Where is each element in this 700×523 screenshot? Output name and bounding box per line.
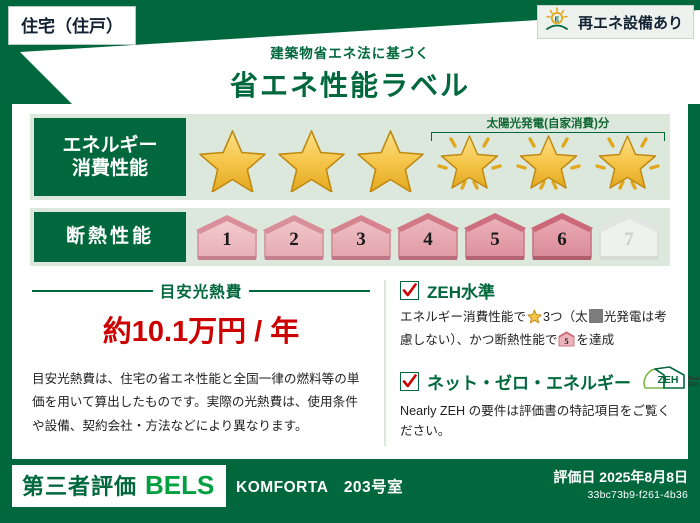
- footer: 第三者評価 BELS KOMFORTA 203号室 評価日 2025年8月8日 …: [0, 459, 700, 523]
- title-subtitle: 建築物省エネ法に基づく: [0, 42, 700, 62]
- insulation-level-5: 5: [462, 213, 528, 261]
- svg-text:E: E: [555, 16, 560, 23]
- checkmark-icon: [400, 281, 419, 300]
- zeh-standard-text-part-2: 3つ（太: [543, 310, 588, 324]
- heading-rule-left: [32, 290, 153, 292]
- footer-meta: 評価日 2025年8月8日 33bc73b9-f261-4b36: [553, 467, 688, 501]
- energy-cost-value: 約10.1万円 / 年: [32, 308, 370, 350]
- insulation-level-4: 4: [395, 213, 461, 261]
- solar-sun-icon: E: [544, 7, 572, 38]
- star-3: [352, 122, 429, 192]
- insulation-performance-body: 1 2: [186, 208, 670, 266]
- solar-bracket: 太陽光発電(自家消費)分: [431, 118, 665, 141]
- solar-bracket-line: [431, 132, 665, 141]
- energy-cost-heading: 目安光熱費: [160, 280, 243, 302]
- zeh-block: ZEH水準 エネルギー消費性能で3つ（太光発電は考慮しない）、かつ断熱性能で5を…: [400, 278, 676, 454]
- bels-en-label: BELS: [145, 470, 214, 501]
- insulation-level-3: 3: [328, 213, 394, 261]
- insulation-level-1: 1: [194, 213, 260, 261]
- zeh-logo-icon: ZEH Nearly ZEH: [641, 366, 700, 397]
- zeh-net-zero-title: ネット・ゼロ・エネルギー: [427, 369, 631, 394]
- zeh-standard-title: ZEH水準: [427, 278, 495, 303]
- title-main: 省エネ性能ラベル: [0, 64, 700, 104]
- star-1: [194, 122, 271, 192]
- zeh-net-zero-text: Nearly ZEH の要件は評価書の特記項目をご覧ください。: [400, 401, 676, 442]
- insulation-performance-row: 断熱性能 1: [30, 208, 670, 266]
- renewable-energy-badge: E 再エネ設備あり: [537, 5, 694, 39]
- house-5-icon: 5: [558, 336, 575, 350]
- residence-type-pill: 住宅（住戸）: [8, 6, 136, 45]
- insulation-level-7-number: 7: [596, 229, 662, 251]
- star-2: [273, 122, 350, 192]
- insulation-level-6: 6: [529, 213, 595, 261]
- insulation-level-1-number: 1: [194, 229, 260, 251]
- solar-bracket-label: 太陽光発電(自家消費)分: [431, 118, 665, 131]
- energy-performance-label: エネルギー 消費性能: [34, 118, 186, 196]
- energy-cost-block: 目安光熱費 約10.1万円 / 年 目安光熱費は、住宅の省エネ性能と全国一律の燃…: [32, 280, 370, 438]
- title-block: 建築物省エネ法に基づく 省エネ性能ラベル: [0, 42, 700, 104]
- insulation-level-6-number: 6: [529, 229, 595, 251]
- evaluation-id: 33bc73b9-f261-4b36: [553, 489, 688, 501]
- svg-text:ZEH: ZEH: [688, 382, 698, 388]
- bels-badge: 第三者評価 BELS: [12, 465, 226, 507]
- building-name: KOMFORTA 203号室: [236, 475, 403, 497]
- insulation-level-2-number: 2: [261, 229, 327, 251]
- vertical-divider: [384, 280, 386, 446]
- insulation-level-4-number: 4: [395, 229, 461, 251]
- main-card: エネルギー 消費性能 太陽光発電(自家消費)分: [12, 104, 688, 459]
- svg-text:5: 5: [565, 336, 569, 346]
- zeh-standard-text-part-1: エネルギー消費性能で: [400, 310, 526, 324]
- zeh-standard-text-part-4: を達成: [576, 333, 614, 347]
- zeh-net-zero-heading-row: ネット・ゼロ・エネルギー ZEH Nearly ZEH: [400, 366, 676, 397]
- svg-text:ZEH: ZEH: [658, 374, 679, 386]
- energy-performance-body: 太陽光発電(自家消費)分: [186, 114, 670, 200]
- renewable-energy-badge-label: 再エネ設備あり: [578, 12, 683, 33]
- heading-rule-right: [249, 290, 370, 292]
- insulation-performance-label: 断熱性能: [34, 212, 186, 262]
- star-icon: [527, 313, 542, 327]
- energy-performance-label-line1: エネルギー: [62, 134, 157, 157]
- insulation-level-2: 2: [261, 213, 327, 261]
- zeh-standard-text: エネルギー消費性能で3つ（太光発電は考慮しない）、かつ断熱性能で5を達成: [400, 307, 676, 354]
- insulation-level-3-number: 3: [328, 229, 394, 251]
- energy-performance-label-line2: 消費性能: [72, 157, 148, 180]
- zeh-item-net-zero: ネット・ゼロ・エネルギー ZEH Nearly ZEH Nearly ZEH の…: [400, 366, 676, 442]
- evaluation-date: 評価日 2025年8月8日: [553, 467, 688, 487]
- checkmark-icon: [400, 372, 419, 391]
- insulation-level-scale: 1 2: [194, 213, 662, 261]
- energy-performance-row: エネルギー 消費性能 太陽光発電(自家消費)分: [30, 114, 670, 200]
- redacted-block: [589, 309, 603, 323]
- insulation-level-7: 7: [596, 213, 662, 261]
- energy-cost-note: 目安光熱費は、住宅の省エネ性能と全国一律の燃料等の単価を用いて算出したものです。…: [32, 368, 370, 438]
- energy-cost-heading-row: 目安光熱費: [32, 280, 370, 302]
- insulation-level-5-number: 5: [462, 229, 528, 251]
- energy-performance-label: 住宅（住戸） E 再エネ設備あり 建築物省エネ法に基づく 省エネ性能ラベル: [0, 0, 700, 523]
- zeh-item-standard: ZEH水準 エネルギー消費性能で3つ（太光発電は考慮しない）、かつ断熱性能で5を…: [400, 278, 676, 354]
- bels-jp-label: 第三者評価: [22, 469, 137, 501]
- zeh-standard-heading-row: ZEH水準: [400, 278, 676, 303]
